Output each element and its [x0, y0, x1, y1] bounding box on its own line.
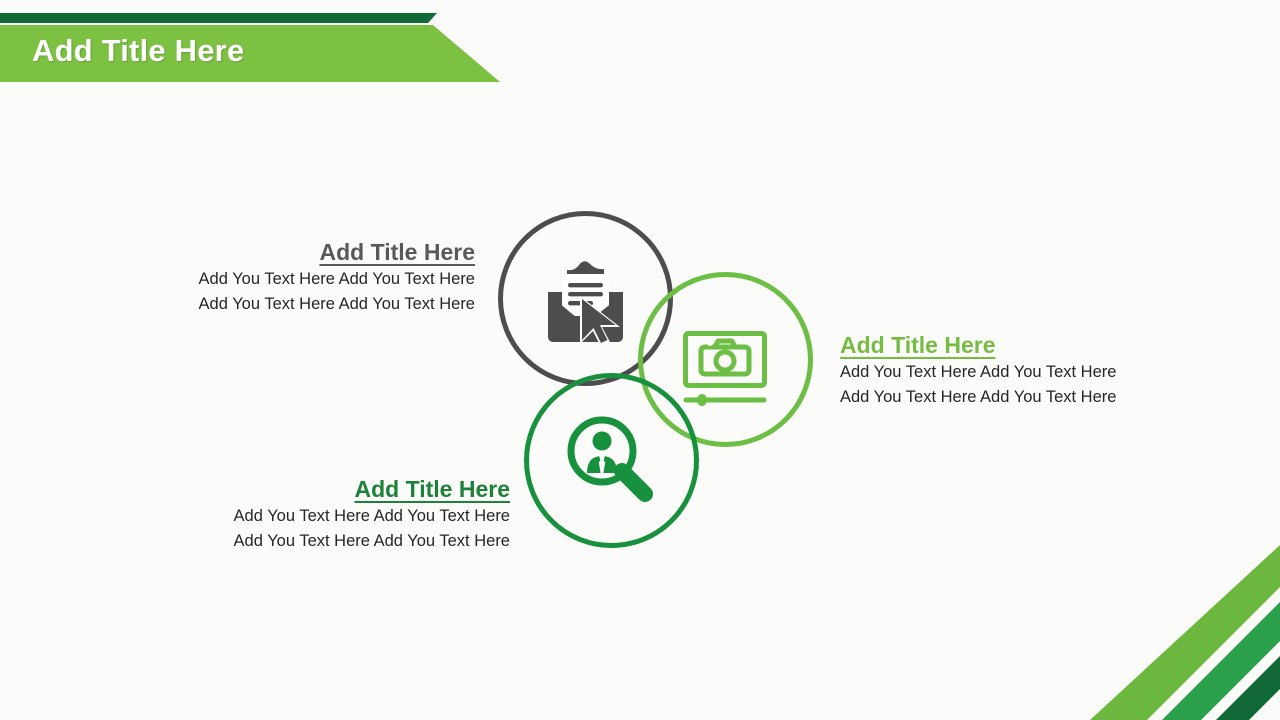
- title-accent-stripe: [0, 13, 437, 23]
- block-heading-mail: Add Title Here: [183, 238, 475, 267]
- corner-decoration: [1050, 545, 1280, 720]
- block-body-camera-line2: Add You Text Here Add You Text Here: [840, 385, 1140, 410]
- block-heading-user-search: Add Title Here: [218, 475, 510, 504]
- block-body-user-search-line2: Add You Text Here Add You Text Here: [218, 529, 510, 554]
- block-body-mail-line1: Add You Text Here Add You Text Here: [183, 267, 475, 292]
- block-heading-camera: Add Title Here: [840, 331, 1140, 360]
- block-body-mail-line2: Add You Text Here Add You Text Here: [183, 292, 475, 317]
- page-title: Add Title Here: [32, 33, 244, 69]
- block-body-user-search-line1: Add You Text Here Add You Text Here: [218, 504, 510, 529]
- user-search-magnifier-icon: [566, 415, 658, 505]
- text-block-camera: Add Title Here Add You Text Here Add You…: [840, 331, 1140, 411]
- mail-document-cursor-icon: [544, 258, 627, 348]
- block-body-camera-line1: Add You Text Here Add You Text Here: [840, 360, 1140, 385]
- text-block-user-search: Add Title Here Add You Text Here Add You…: [218, 475, 510, 555]
- slide-canvas: Add Title Here: [0, 0, 1280, 720]
- camera-media-slider-icon: [682, 330, 768, 408]
- text-block-mail: Add Title Here Add You Text Here Add You…: [183, 238, 475, 318]
